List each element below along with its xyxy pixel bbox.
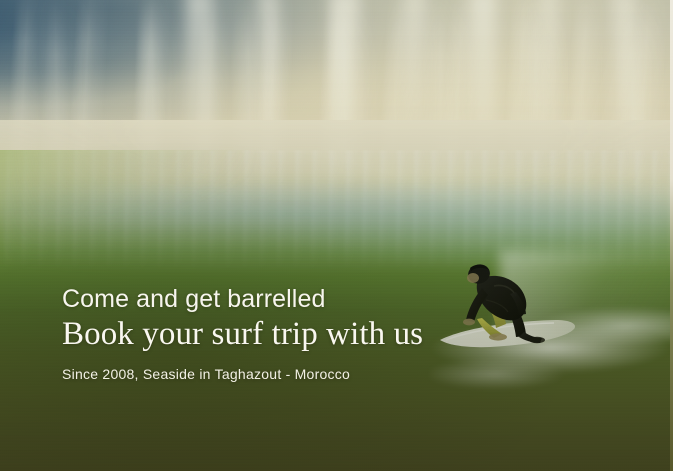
spray-plume-icon [612,0,636,195]
blue-sea-band [0,0,673,471]
spray-plume-icon [470,0,496,195]
spray-curtain [0,150,673,270]
wave-left-shoulder [0,150,260,300]
offshore-spray-streaks [0,0,673,200]
spray-plume-icon [186,0,212,195]
spray-plume-icon [540,0,558,195]
spray-plume-icon [404,0,426,195]
colour-cast [0,0,673,471]
headline-line-1: Come and get barrelled [62,286,582,313]
hero-copy-block: Come and get barrelled Book your surf tr… [62,286,582,383]
warm-haze-wash [0,0,673,215]
sky-water-gradient [0,0,673,471]
offshore-spray-streaks-secondary [0,0,673,190]
spray-plume-icon [330,0,360,195]
vignette [0,0,673,471]
headline-line-2: Book your surf trip with us [62,315,582,353]
film-grain [0,0,673,471]
tagline: Since 2008, Seaside in Taghazout - Moroc… [62,365,582,383]
wave-crest-foam [0,120,673,270]
blue-sea-band-secondary [0,0,673,471]
surf-hero-banner: Come and get barrelled Book your surf tr… [0,0,673,471]
spray-plume-icon [258,0,278,195]
